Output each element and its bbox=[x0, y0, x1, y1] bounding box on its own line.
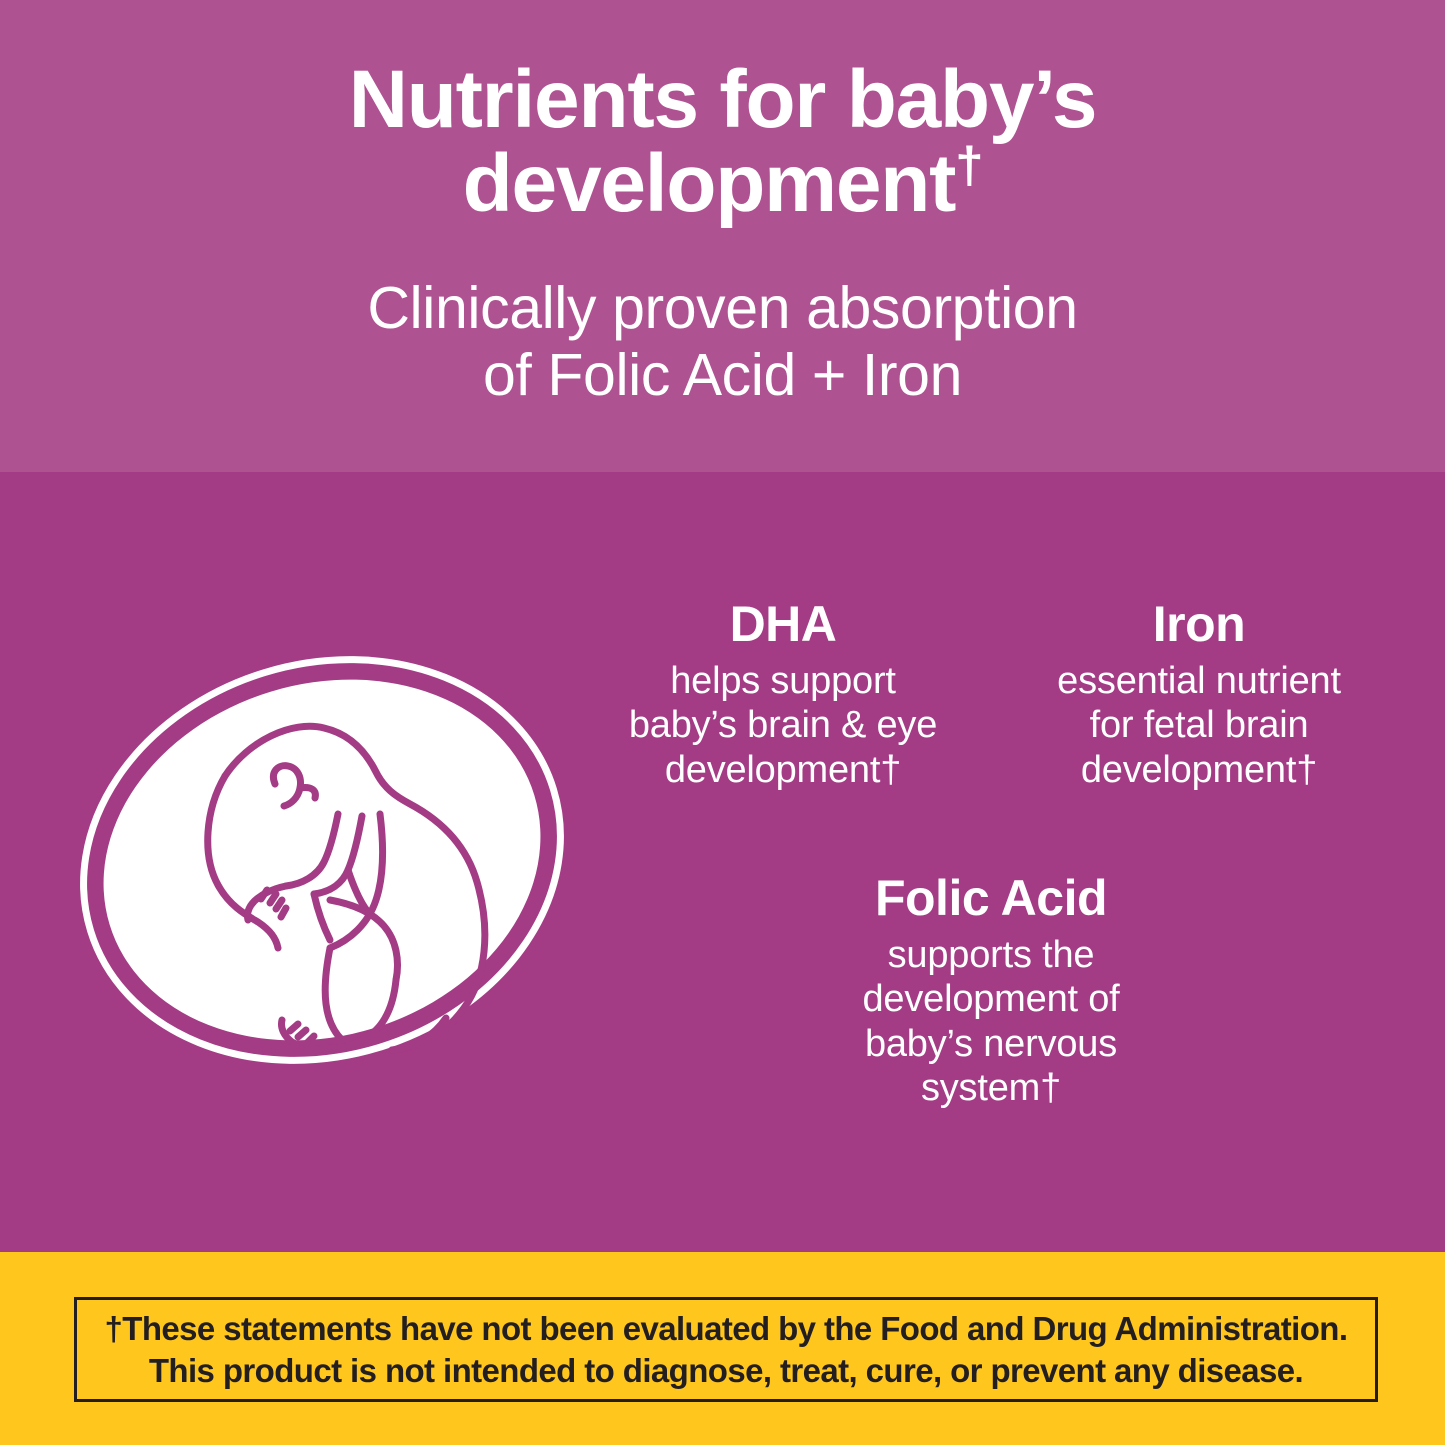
body-band: DHA helps support baby’s brain & eye dev… bbox=[0, 472, 1445, 1252]
nutrient-desc-folic-acid: supports the development of baby’s nervo… bbox=[800, 933, 1182, 1111]
nutrient-desc-line: development of bbox=[800, 977, 1182, 1021]
fetus-in-womb-icon bbox=[62, 600, 582, 1120]
nutrient-desc-line: supports the bbox=[800, 933, 1182, 977]
footer-band: †These statements have not been evaluate… bbox=[0, 1252, 1445, 1445]
header-band: Nutrients for baby’s development† Clinic… bbox=[0, 0, 1445, 472]
nutrient-title-iron: Iron bbox=[1008, 598, 1390, 651]
dagger-symbol: † bbox=[955, 136, 982, 193]
disclaimer-line-2: This product is not intended to diagnose… bbox=[149, 1350, 1303, 1391]
nutrient-desc-line: development† bbox=[1008, 748, 1390, 792]
disclaimer-line-1: †These statements have not been evaluate… bbox=[105, 1308, 1348, 1349]
nutrient-block-folic-acid: Folic Acid supports the development of b… bbox=[800, 872, 1182, 1111]
subhead-line-2: of Folic Acid + Iron bbox=[483, 342, 962, 408]
headline-line-2: development bbox=[463, 138, 956, 229]
nutrient-block-dha: DHA helps support baby’s brain & eye dev… bbox=[588, 598, 978, 792]
nutrient-block-iron: Iron essential nutrient for fetal brain … bbox=[1008, 598, 1390, 792]
nutrient-title-dha: DHA bbox=[588, 598, 978, 651]
nutrient-title-folic-acid: Folic Acid bbox=[800, 872, 1182, 925]
nutrient-desc-line: baby’s nervous bbox=[800, 1022, 1182, 1066]
product-infographic: Nutrients for baby’s development† Clinic… bbox=[0, 0, 1445, 1445]
nutrient-desc-iron: essential nutrient for fetal brain devel… bbox=[1008, 659, 1390, 792]
subhead-line-1: Clinically proven absorption bbox=[367, 275, 1077, 341]
headline-line-1: Nutrients for baby’s bbox=[349, 54, 1097, 145]
nutrient-desc-line: essential nutrient bbox=[1008, 659, 1390, 703]
nutrient-desc-line: for fetal brain bbox=[1008, 703, 1390, 747]
nutrient-desc-line: helps support bbox=[588, 659, 978, 703]
fda-disclaimer-box: †These statements have not been evaluate… bbox=[74, 1297, 1378, 1402]
nutrient-desc-line: development† bbox=[588, 748, 978, 792]
page-title: Nutrients for baby’s development† bbox=[349, 58, 1097, 225]
nutrient-desc-line: baby’s brain & eye bbox=[588, 703, 978, 747]
nutrient-desc-line: system† bbox=[800, 1066, 1182, 1110]
nutrient-desc-dha: helps support baby’s brain & eye develop… bbox=[588, 659, 978, 792]
page-subtitle: Clinically proven absorption of Folic Ac… bbox=[367, 275, 1077, 408]
